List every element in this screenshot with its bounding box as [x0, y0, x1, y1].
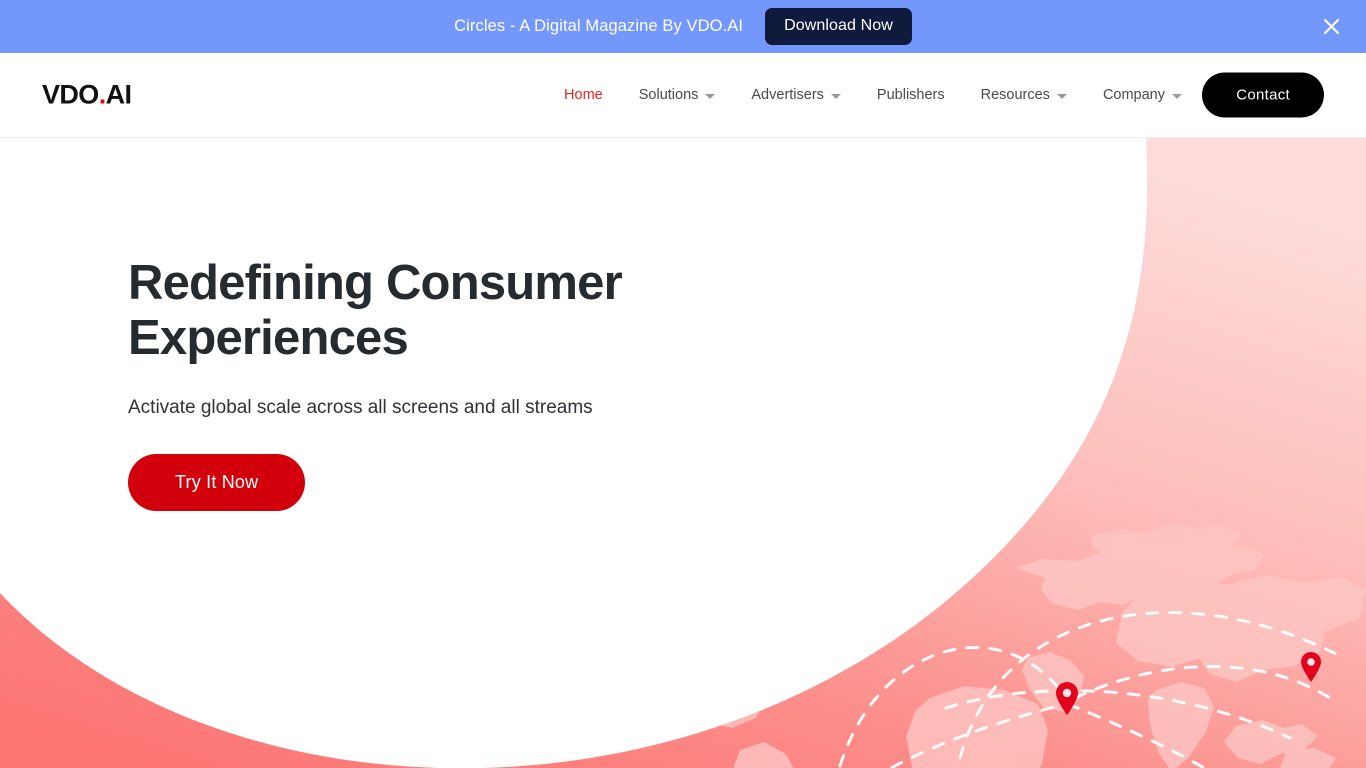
nav-item-label: Publishers [877, 87, 945, 103]
chevron-down-icon [705, 94, 715, 99]
logo-text-main: VDO [42, 80, 99, 110]
promo-banner-text: Circles - A Digital Magazine By VDO.AI [454, 17, 743, 36]
nav-item-company[interactable]: Company [1085, 81, 1200, 109]
nav-item-label: Company [1103, 87, 1165, 103]
download-now-button[interactable]: Download Now [765, 8, 912, 45]
nav-item-solutions[interactable]: Solutions [621, 81, 734, 109]
main-navbar: VDO.AI Home Solutions Advertisers Publis… [0, 53, 1366, 138]
close-icon[interactable] [1318, 14, 1344, 40]
hero-title-line-1: Redefining Consumer [128, 256, 622, 310]
chevron-down-icon [1172, 94, 1182, 99]
nav-item-label: Advertisers [751, 87, 824, 103]
logo-text-suffix: AI [106, 80, 132, 110]
promo-banner: Circles - A Digital Magazine By VDO.AI D… [0, 0, 1366, 53]
nav-links: Home Solutions Advertisers Publishers Re… [546, 81, 1200, 109]
nav-item-resources[interactable]: Resources [963, 81, 1085, 109]
hero-subtitle: Activate global scale across all screens… [128, 392, 598, 423]
hero-title-line-2: Experiences [128, 311, 408, 365]
nav-item-home[interactable]: Home [546, 81, 621, 109]
nav-item-publishers[interactable]: Publishers [859, 81, 963, 109]
contact-button[interactable]: Contact [1202, 73, 1324, 118]
chevron-down-icon [831, 94, 841, 99]
vdo-ai-logo[interactable]: VDO.AI [42, 82, 131, 109]
page-title: Redefining Consumer Experiences [128, 256, 622, 366]
hero-content: Redefining Consumer Experiences Activate… [128, 256, 622, 511]
nav-item-label: Resources [981, 87, 1050, 103]
nav-item-label: Solutions [639, 87, 699, 103]
chevron-down-icon [1057, 94, 1067, 99]
nav-item-advertisers[interactable]: Advertisers [733, 81, 859, 109]
logo-dot: . [99, 80, 106, 110]
nav-item-label: Home [564, 87, 603, 103]
try-it-now-button[interactable]: Try It Now [128, 454, 305, 511]
hero-section: Redefining Consumer Experiences Activate… [0, 138, 1366, 768]
